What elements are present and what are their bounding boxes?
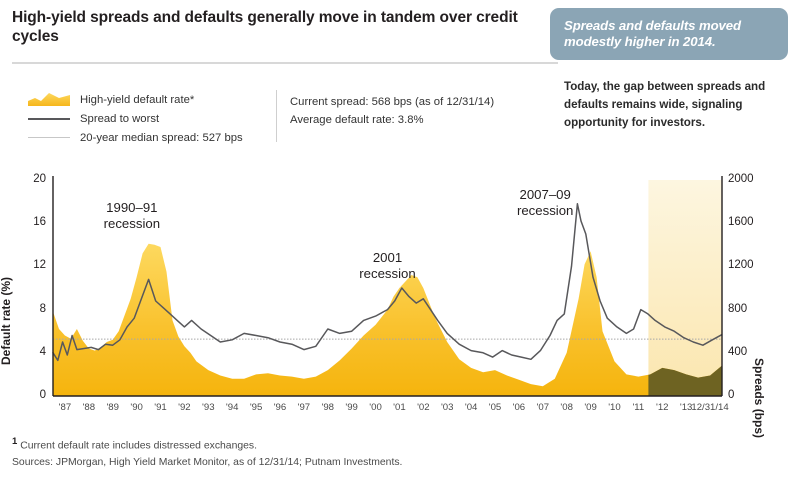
x-tick-00: '00 [363, 402, 389, 413]
annotation-2: 2007–09recession [490, 187, 600, 219]
x-tick-92: '92 [171, 402, 197, 413]
callout-banner-text: Spreads and defaults moved modestly high… [550, 18, 788, 51]
y-tick-right-1600: 1600 [728, 216, 768, 228]
x-tick-03: '03 [434, 402, 460, 413]
callout-banner: Spreads and defaults moved modestly high… [550, 8, 788, 60]
area-swatch-icon [28, 92, 70, 107]
legend-label-median-spread: 20-year median spread: 527 bps [80, 132, 243, 144]
x-tick-02: '02 [410, 402, 436, 413]
stats-block: Current spread: 568 bps (as of 12/31/14)… [290, 93, 540, 130]
y-tick-right-2000: 2000 [728, 173, 768, 185]
footnotes: 1 Current default rate includes distress… [12, 434, 612, 472]
header-divider [12, 62, 558, 64]
y-tick-left-4: 4 [20, 346, 46, 358]
x-tick-89: '89 [100, 402, 126, 413]
stat-current-spread: Current spread: 568 bps (as of 12/31/14) [290, 93, 540, 111]
callout-body-text: Today, the gap between spreads and defau… [564, 78, 796, 132]
chart-page: High-yield spreads and defaults generall… [0, 0, 800, 479]
annotation-1: 2001recession [333, 250, 443, 282]
footnote-note-text: Current default rate includes distressed… [20, 440, 257, 451]
footnote-marker: 1 [12, 436, 17, 447]
y-tick-left-16: 16 [20, 216, 46, 228]
x-tick-08: '08 [554, 402, 580, 413]
x-tick-96: '96 [267, 402, 293, 413]
chart-legend: High-yield default rate* Spread to worst… [28, 90, 280, 147]
x-tick-97: '97 [291, 402, 317, 413]
x-tick-07: '07 [530, 402, 556, 413]
legend-item-default-rate: High-yield default rate* [28, 90, 280, 109]
y-tick-right-0: 0 [728, 389, 768, 401]
y-tick-left-20: 20 [20, 173, 46, 185]
x-tick-95: '95 [243, 402, 269, 413]
x-tick-05: '05 [482, 402, 508, 413]
legend-label-spread-to-worst: Spread to worst [80, 113, 159, 125]
chart-area: Default rate (%) Spreads (bps) 048121620… [0, 160, 800, 422]
line-swatch-icon [28, 111, 70, 126]
x-tick-94: '94 [219, 402, 245, 413]
line-light-swatch-icon [28, 130, 70, 145]
x-tick-123114: 12/31/14 [685, 402, 735, 413]
footnote-sources: Sources: JPMorgan, High Yield Market Mon… [12, 455, 612, 472]
x-tick-11: '11 [625, 402, 651, 413]
x-tick-12: '12 [649, 402, 675, 413]
y-tick-right-800: 800 [728, 303, 768, 315]
x-tick-88: '88 [76, 402, 102, 413]
x-tick-06: '06 [506, 402, 532, 413]
y-tick-left-12: 12 [20, 259, 46, 271]
page-title: High-yield spreads and defaults generall… [12, 8, 552, 47]
x-tick-10: '10 [601, 402, 627, 413]
x-tick-09: '09 [578, 402, 604, 413]
legend-item-median-spread: 20-year median spread: 527 bps [28, 128, 280, 147]
y-tick-left-8: 8 [20, 303, 46, 315]
x-tick-93: '93 [195, 402, 221, 413]
footnote-note: 1 Current default rate includes distress… [12, 434, 612, 455]
x-tick-04: '04 [458, 402, 484, 413]
x-tick-91: '91 [148, 402, 174, 413]
y-axis-title-left: Default rate (%) [0, 277, 13, 365]
annotation-0: 1990–91recession [77, 200, 187, 232]
legend-divider [276, 90, 277, 142]
x-tick-90: '90 [124, 402, 150, 413]
stat-average-default: Average default rate: 3.8% [290, 111, 540, 129]
x-tick-87: '87 [52, 402, 78, 413]
y-tick-right-400: 400 [728, 346, 768, 358]
legend-label-default-rate: High-yield default rate* [80, 94, 194, 106]
x-tick-99: '99 [339, 402, 365, 413]
x-tick-01: '01 [386, 402, 412, 413]
legend-item-spread-to-worst: Spread to worst [28, 109, 280, 128]
y-tick-left-0: 0 [20, 389, 46, 401]
x-tick-98: '98 [315, 402, 341, 413]
y-tick-right-1200: 1200 [728, 259, 768, 271]
